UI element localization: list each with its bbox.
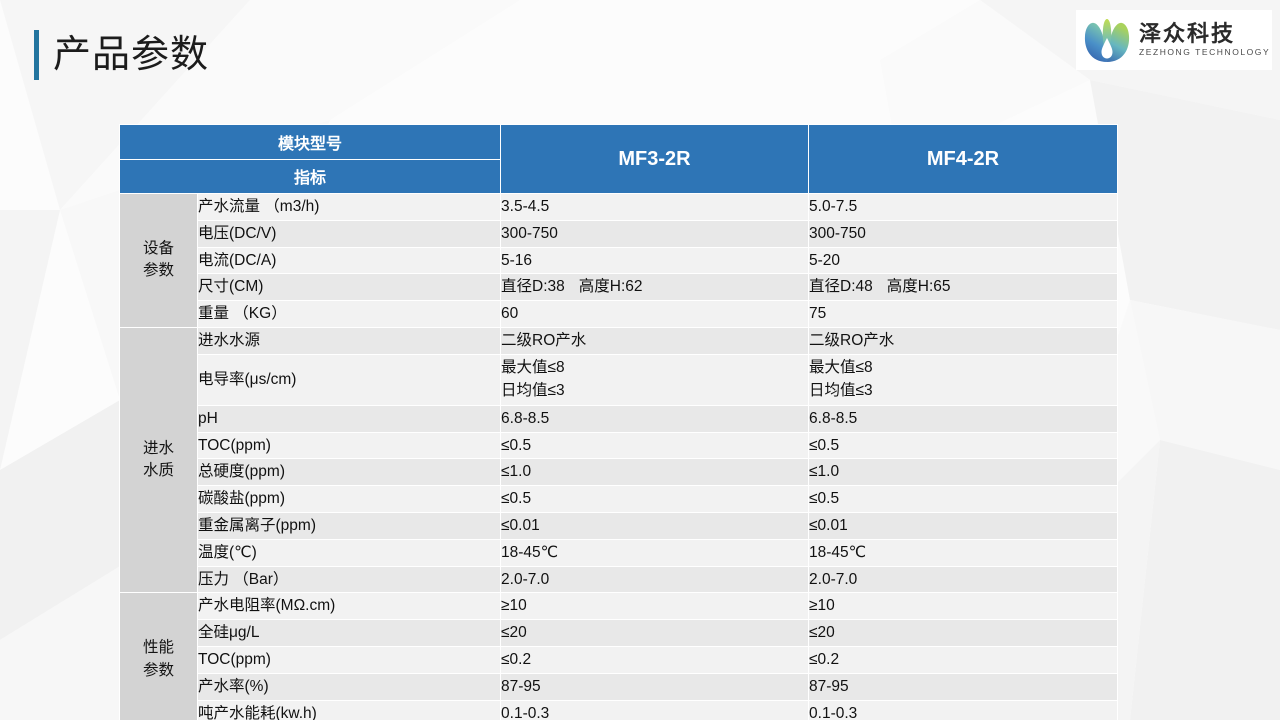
row-value-mf4: 18-45℃ [809,539,1118,566]
group-label-line2: 水质 [120,460,197,482]
row-item-label: 全硅μg/L [198,620,501,647]
row-value-mf3: 0.1-0.3 [501,700,809,720]
row-value-mf4: ≤0.5 [809,486,1118,513]
row-value-mf4-line2: 日均值≤3 [809,380,1117,402]
row-value-mf4: 0.1-0.3 [809,700,1118,720]
row-value-mf4: ≤0.5 [809,432,1118,459]
row-item-label: pH [198,405,501,432]
row-value-mf4: ≤0.01 [809,512,1118,539]
group-label-line1: 设备 [120,238,197,260]
row-value-mf4-line1: 最大值≤8 [809,357,1117,379]
row-value-mf4: 最大值≤8日均值≤3 [809,354,1118,405]
row-item-label: 电流(DC/A) [198,247,501,274]
row-value-mf4: ≥10 [809,593,1118,620]
table-row: 全硅μg/L≤20≤20 [120,620,1118,647]
group-label-line1: 进水 [120,438,197,460]
slide-canvas: 产品参数 [0,0,1280,720]
row-value-mf3: ≤20 [501,620,809,647]
row-value-mf3: ≤0.2 [501,646,809,673]
table-row: 吨产水能耗(kw.h)0.1-0.30.1-0.3 [120,700,1118,720]
row-item-label: 温度(℃) [198,539,501,566]
table-row: TOC(ppm)≤0.2≤0.2 [120,646,1118,673]
row-value-mf3: 2.0-7.0 [501,566,809,593]
row-item-label: 电导率(μs/cm) [198,354,501,405]
table-row: 性能参数产水电阻率(MΩ.cm)≥10≥10 [120,593,1118,620]
row-value-mf3: ≤1.0 [501,459,809,486]
table-row: 进水水质进水水源二级RO产水二级RO产水 [120,327,1118,354]
header-index-label: 指标 [120,159,501,194]
spec-table-head: 模块型号 MF3-2R MF4-2R 指标 [120,125,1118,194]
row-value-mf4: 75 [809,301,1118,328]
spec-table-container: 模块型号 MF3-2R MF4-2R 指标 设备参数产水流量 （m3/h)3.5… [119,124,1117,720]
table-row: 电流(DC/A)5-165-20 [120,247,1118,274]
header-model-label: 模块型号 [120,125,501,160]
header-row-model: 模块型号 MF3-2R MF4-2R [120,125,1118,160]
group-label-1: 进水水质 [120,327,198,592]
header-col-mf4: MF4-2R [809,125,1118,194]
row-value-mf3: 二级RO产水 [501,327,809,354]
row-item-label: 总硬度(ppm) [198,459,501,486]
row-item-label: 电压(DC/V) [198,220,501,247]
row-value-mf3: ≤0.5 [501,486,809,513]
logo-text-block: 泽众科技 ZEZHONG TECHNOLOGY [1139,22,1270,57]
row-value-mf3: 直径D:38高度H:62 [501,274,809,301]
row-value-mf4: ≤20 [809,620,1118,647]
row-value-mf4: 87-95 [809,673,1118,700]
table-row: 电压(DC/V)300-750300-750 [120,220,1118,247]
group-label-line2: 参数 [120,660,197,682]
spec-table: 模块型号 MF3-2R MF4-2R 指标 设备参数产水流量 （m3/h)3.5… [119,124,1118,720]
group-label-2: 性能参数 [120,593,198,720]
table-row: 总硬度(ppm)≤1.0≤1.0 [120,459,1118,486]
group-label-line2: 参数 [120,260,197,282]
row-item-label: 进水水源 [198,327,501,354]
row-value-mf3: 3.5-4.5 [501,194,809,221]
row-value-mf3: 300-750 [501,220,809,247]
row-value-mf3: 87-95 [501,673,809,700]
row-value-mf4-part2: 高度H:65 [887,278,951,295]
row-value-mf4: ≤1.0 [809,459,1118,486]
row-item-label: TOC(ppm) [198,646,501,673]
page-title-group: 产品参数 [34,27,209,83]
row-value-mf3-part2: 高度H:62 [579,278,643,295]
logo-name-en: ZEZHONG TECHNOLOGY [1139,47,1270,57]
row-value-mf3-part1: 直径D:38 [501,278,565,295]
row-value-mf4: 二级RO产水 [809,327,1118,354]
spec-table-body: 设备参数产水流量 （m3/h)3.5-4.55.0-7.5电压(DC/V)300… [120,194,1118,720]
row-value-mf3: ≤0.5 [501,432,809,459]
row-value-mf4: 5-20 [809,247,1118,274]
group-label-line1: 性能 [120,637,197,659]
row-item-label: 压力 （Bar） [198,566,501,593]
row-value-mf3: 最大值≤8日均值≤3 [501,354,809,405]
table-row: 尺寸(CM)直径D:38高度H:62直径D:48高度H:65 [120,274,1118,301]
row-item-label: 重量 （KG） [198,301,501,328]
company-logo: 泽众科技 ZEZHONG TECHNOLOGY [1076,10,1272,70]
row-value-mf4-part1: 直径D:48 [809,278,873,295]
row-value-mf3: 6.8-8.5 [501,405,809,432]
group-label-0: 设备参数 [120,194,198,328]
row-item-label: 尺寸(CM) [198,274,501,301]
table-row: 重金属离子(ppm)≤0.01≤0.01 [120,512,1118,539]
logo-name-cn: 泽众科技 [1139,22,1270,45]
table-row: 产水率(%)87-9587-95 [120,673,1118,700]
row-value-mf4: 2.0-7.0 [809,566,1118,593]
table-row: 压力 （Bar）2.0-7.02.0-7.0 [120,566,1118,593]
header-col-mf3: MF3-2R [501,125,809,194]
row-item-label: 产水率(%) [198,673,501,700]
row-item-label: TOC(ppm) [198,432,501,459]
row-item-label: 产水电阻率(MΩ.cm) [198,593,501,620]
row-value-mf3: 60 [501,301,809,328]
table-row: 重量 （KG）6075 [120,301,1118,328]
row-value-mf3: ≤0.01 [501,512,809,539]
lotus-waterdrop-icon [1082,16,1132,64]
row-value-mf3: ≥10 [501,593,809,620]
row-value-mf3-line1: 最大值≤8 [501,357,808,379]
row-item-label: 重金属离子(ppm) [198,512,501,539]
table-row: 温度(℃)18-45℃18-45℃ [120,539,1118,566]
row-value-mf4: 6.8-8.5 [809,405,1118,432]
table-row: 设备参数产水流量 （m3/h)3.5-4.55.0-7.5 [120,194,1118,221]
row-value-mf3: 5-16 [501,247,809,274]
table-row: TOC(ppm)≤0.5≤0.5 [120,432,1118,459]
table-row: pH6.8-8.56.8-8.5 [120,405,1118,432]
row-value-mf4: 300-750 [809,220,1118,247]
row-value-mf4: ≤0.2 [809,646,1118,673]
row-value-mf3: 18-45℃ [501,539,809,566]
row-item-label: 吨产水能耗(kw.h) [198,700,501,720]
row-item-label: 碳酸盐(ppm) [198,486,501,513]
title-accent-bar [34,30,39,80]
row-value-mf4: 直径D:48高度H:65 [809,274,1118,301]
table-row: 电导率(μs/cm)最大值≤8日均值≤3最大值≤8日均值≤3 [120,354,1118,405]
row-item-label: 产水流量 （m3/h) [198,194,501,221]
table-row: 碳酸盐(ppm)≤0.5≤0.5 [120,486,1118,513]
row-value-mf3-line2: 日均值≤3 [501,380,808,402]
page-title: 产品参数 [53,36,209,74]
row-value-mf4: 5.0-7.5 [809,194,1118,221]
